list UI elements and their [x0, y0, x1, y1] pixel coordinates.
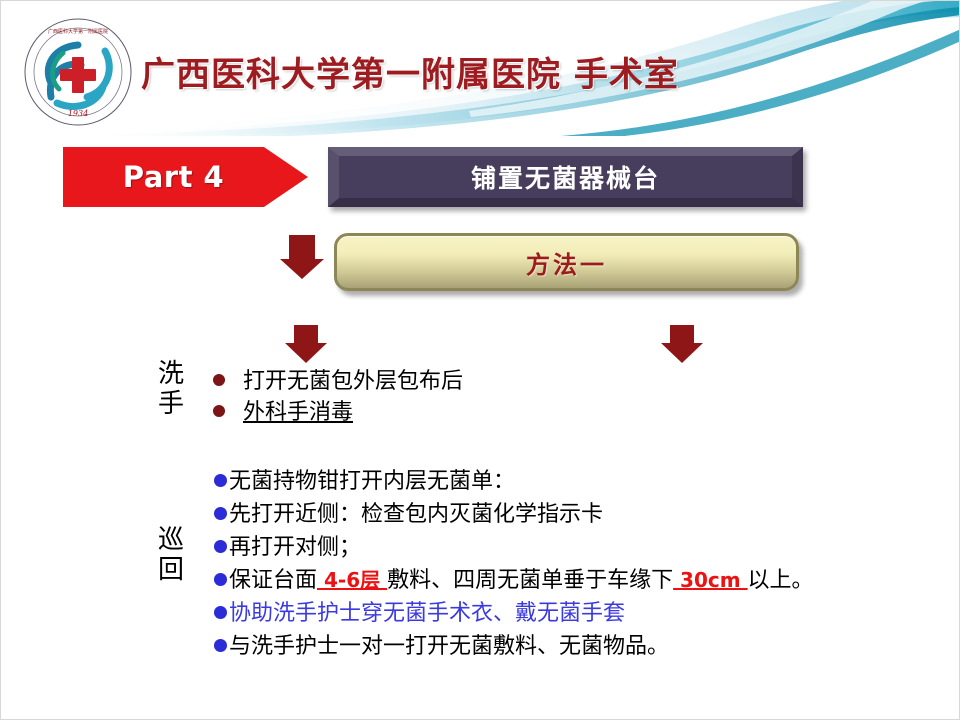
list-item: 与洗手护士一对一打开无菌敷料、无菌物品。 [214, 628, 669, 660]
list-item-text-part: 敷料、四周无菌单垂于车缘下 [387, 568, 673, 593]
hospital-logo: 1934 广西医科大学第一附属医院 [23, 17, 133, 127]
bullet-icon [214, 639, 227, 652]
list-item: 协助洗手护士穿无菌手术衣、戴无菌手套 [214, 595, 625, 627]
topic-box-label: 铺置无菌器械台 [471, 159, 660, 195]
bullet-icon [214, 474, 227, 487]
list-item-text: 先打开近侧：检查包内灭菌化学指示卡 [229, 502, 603, 527]
circulating-nurse-label: 巡 回 [158, 525, 184, 585]
bullet-icon [214, 507, 227, 520]
list-item: 无菌持物钳打开内层无菌单： [214, 463, 515, 495]
list-item: 保证台面 4-6层 敷料、四周无菌单垂于车缘下 30cm 以上。 [214, 562, 814, 594]
bullet-icon [213, 405, 225, 417]
method-box: 方法一 [334, 233, 799, 291]
part-banner-label: Part 4 [123, 160, 224, 194]
svg-text:1934: 1934 [68, 109, 88, 118]
list-item: 先打开近侧：检查包内灭菌化学指示卡 [214, 496, 603, 528]
svg-text:广西医科大学第一附属医院: 广西医科大学第一附属医院 [48, 28, 108, 35]
bullet-icon [213, 374, 225, 386]
highlight-layers: 4-6层 [317, 568, 387, 592]
method-box-label: 方法一 [526, 245, 607, 280]
slide-canvas: 1934 广西医科大学第一附属医院 广西医科大学第一附属医院 手术室 Part … [0, 0, 960, 720]
list-item: 打开无菌包外层包布后 [213, 363, 463, 395]
list-item-text: 再打开对侧； [229, 535, 361, 560]
list-item-text: 协助洗手护士穿无菌手术衣、戴无菌手套 [229, 601, 625, 626]
down-arrow-icon-1 [279, 233, 325, 281]
bullet-icon [214, 540, 227, 553]
page-title: 广西医科大学第一附属医院 手术室 [141, 47, 679, 96]
circulating-nurse-label-char-2: 回 [158, 555, 184, 585]
scrub-nurse-label-char-2: 手 [158, 389, 184, 419]
list-item-text-part: 保证台面 [229, 568, 317, 593]
list-item-text: 与洗手护士一对一打开无菌敷料、无菌物品。 [229, 634, 669, 659]
part-banner: Part 4 [63, 147, 308, 207]
scrub-nurse-label-char-1: 洗 [158, 359, 184, 389]
list-item: 外科手消毒 [213, 394, 353, 426]
down-arrow-icon-2 [283, 323, 329, 365]
list-item-text: 外科手消毒 [243, 400, 353, 425]
list-item-text: 无菌持物钳打开内层无菌单： [229, 469, 515, 494]
bullet-icon [214, 606, 227, 619]
list-item: 再打开对侧； [214, 529, 361, 561]
circulating-nurse-label-char-1: 巡 [158, 525, 184, 555]
scrub-nurse-label: 洗 手 [158, 359, 184, 419]
topic-box: 铺置无菌器械台 [328, 147, 803, 207]
highlight-distance: 30cm [673, 568, 747, 592]
list-item-text-part: 以上。 [748, 568, 814, 593]
down-arrow-icon-3 [659, 323, 705, 365]
list-item-text: 打开无菌包外层包布后 [243, 369, 463, 394]
bullet-icon [214, 573, 227, 586]
